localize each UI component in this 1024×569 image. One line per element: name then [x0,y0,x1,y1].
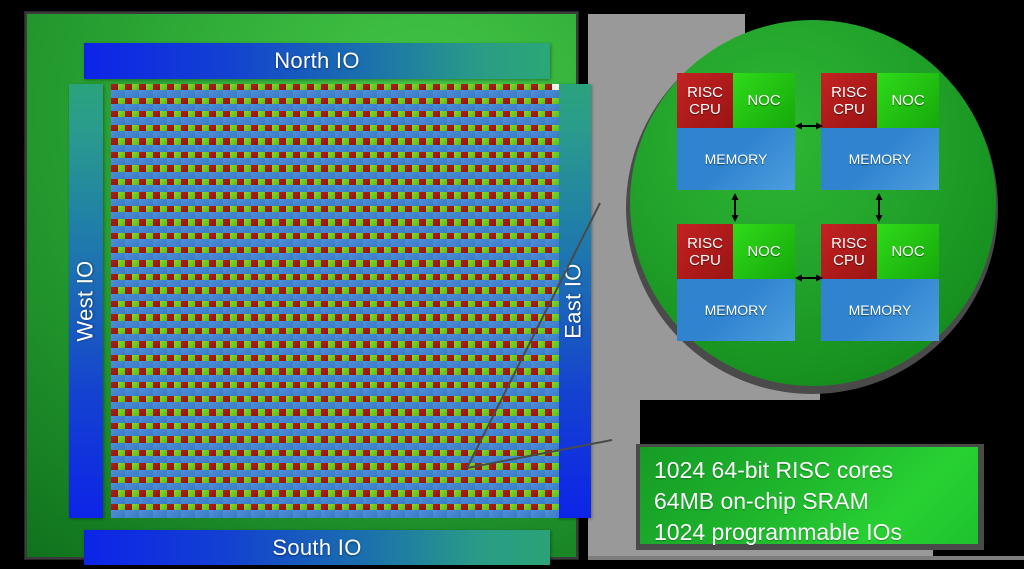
core-tile[interactable] [461,219,475,233]
core-tile[interactable] [209,152,223,166]
core-tile[interactable] [545,314,559,328]
core-tile[interactable] [419,409,433,423]
core-tile[interactable] [125,409,139,423]
core-tile[interactable] [503,450,517,464]
core-tile[interactable] [209,436,223,450]
core-tile[interactable] [349,84,363,98]
core-tile[interactable] [265,247,279,261]
core-tile[interactable] [265,463,279,477]
core-tile[interactable] [209,98,223,112]
core-tile[interactable] [111,328,125,342]
core-tile[interactable] [167,111,181,125]
core-tile[interactable] [489,233,503,247]
core-tile[interactable] [405,436,419,450]
core-tile[interactable] [363,396,377,410]
core-tile[interactable] [503,382,517,396]
core-tile[interactable] [363,341,377,355]
core-tile[interactable] [475,450,489,464]
core-tile[interactable] [139,328,153,342]
core-tile[interactable] [153,98,167,112]
core-tile[interactable] [139,341,153,355]
core-tile[interactable] [391,463,405,477]
core-tile[interactable] [293,409,307,423]
core-tile[interactable] [419,382,433,396]
core-tile[interactable] [111,301,125,315]
core-tile[interactable] [293,328,307,342]
core-tile[interactable] [363,463,377,477]
core-tile[interactable] [391,206,405,220]
core-tile[interactable] [181,84,195,98]
core-tile[interactable] [181,192,195,206]
core-tile[interactable] [461,138,475,152]
core-tile[interactable] [307,165,321,179]
core-tile[interactable] [321,233,335,247]
core-tile[interactable] [265,219,279,233]
core-tile[interactable] [475,287,489,301]
core-tile[interactable] [335,138,349,152]
core-tile[interactable] [237,84,251,98]
core-tile[interactable] [503,504,517,518]
core-tile[interactable] [293,179,307,193]
core-tile[interactable] [195,314,209,328]
core-tile[interactable] [237,152,251,166]
core-tile[interactable] [153,341,167,355]
core-tile[interactable] [475,138,489,152]
core-tile[interactable] [405,423,419,437]
core-tile[interactable] [433,233,447,247]
core-tile[interactable] [251,138,265,152]
core-tile[interactable] [307,84,321,98]
core-tile[interactable] [293,233,307,247]
core-tile[interactable] [209,477,223,491]
core-tile[interactable] [321,98,335,112]
core-tile[interactable] [195,233,209,247]
core-tile[interactable] [181,355,195,369]
core-tile[interactable] [237,450,251,464]
core-tile[interactable] [391,233,405,247]
core-tile[interactable] [209,450,223,464]
core-tile[interactable] [251,260,265,274]
core-tile[interactable] [545,341,559,355]
core-tile[interactable] [321,477,335,491]
core-tile[interactable] [363,450,377,464]
core-tile[interactable] [209,84,223,98]
core-tile[interactable] [531,138,545,152]
core-tile[interactable] [209,409,223,423]
core-tile[interactable] [335,368,349,382]
core-tile[interactable] [293,423,307,437]
core-tile[interactable] [111,98,125,112]
core-tile[interactable] [517,314,531,328]
core-tile[interactable] [265,152,279,166]
core-tile[interactable] [433,125,447,139]
core-tile[interactable] [545,152,559,166]
core-tile[interactable] [363,165,377,179]
core-tile[interactable] [363,477,377,491]
core-tile[interactable] [349,477,363,491]
core-tile[interactable] [433,206,447,220]
core-tile[interactable] [517,355,531,369]
core-tile[interactable] [405,152,419,166]
core-tile[interactable] [181,287,195,301]
core-tile[interactable] [167,355,181,369]
core-tile[interactable] [489,206,503,220]
core-tile[interactable] [545,274,559,288]
core-tile[interactable] [307,152,321,166]
core-tile[interactable] [279,287,293,301]
core-tile[interactable] [265,274,279,288]
core-tile[interactable] [265,179,279,193]
core-tile[interactable] [545,436,559,450]
core-tile[interactable] [405,111,419,125]
core-tile[interactable] [167,463,181,477]
core-tile[interactable] [461,355,475,369]
core-tile[interactable] [125,450,139,464]
core-tile[interactable] [447,260,461,274]
core-tile[interactable] [195,450,209,464]
core-tile[interactable] [237,328,251,342]
core-tile[interactable] [447,477,461,491]
core-tile[interactable] [349,287,363,301]
core-tile[interactable] [181,423,195,437]
core-tile[interactable] [335,206,349,220]
core-tile[interactable] [293,125,307,139]
core-tile[interactable] [223,138,237,152]
core-tile[interactable] [181,396,195,410]
core-tile[interactable] [251,463,265,477]
core-tile[interactable] [405,504,419,518]
core-tile[interactable] [223,504,237,518]
core-tile[interactable] [111,477,125,491]
core-tile[interactable] [545,192,559,206]
core-tile[interactable] [503,287,517,301]
core-tile[interactable] [181,490,195,504]
core-tile[interactable] [349,138,363,152]
core-tile[interactable] [293,382,307,396]
core-tile[interactable] [307,233,321,247]
core-tile[interactable] [461,396,475,410]
core-tile[interactable] [405,490,419,504]
core-tile[interactable] [279,423,293,437]
zoom-tile-bottom-right[interactable]: RISC CPU NOC MEMORY [821,224,939,341]
core-tile[interactable] [195,179,209,193]
core-tile[interactable] [391,287,405,301]
core-tile[interactable] [377,260,391,274]
core-tile[interactable] [111,287,125,301]
core-tile[interactable] [433,301,447,315]
core-tile[interactable] [391,423,405,437]
core-tile[interactable] [349,111,363,125]
core-tile[interactable] [153,355,167,369]
core-tile[interactable] [433,165,447,179]
core-tile[interactable] [433,490,447,504]
core-tile[interactable] [223,341,237,355]
core-tile[interactable] [447,111,461,125]
core-tile[interactable] [461,341,475,355]
core-tile[interactable] [251,314,265,328]
core-tile[interactable] [545,98,559,112]
core-tile[interactable] [349,192,363,206]
core-tile[interactable] [209,192,223,206]
core-tile[interactable] [195,219,209,233]
core-tile[interactable] [223,152,237,166]
core-tile[interactable] [125,301,139,315]
core-tile[interactable] [237,341,251,355]
core-tile[interactable] [167,274,181,288]
core-tile[interactable] [517,152,531,166]
core-tile[interactable] [447,409,461,423]
core-tile[interactable] [251,247,265,261]
core-tile[interactable] [321,409,335,423]
core-tile[interactable] [475,84,489,98]
core-tile[interactable] [545,368,559,382]
core-tile[interactable] [489,179,503,193]
core-tile[interactable] [265,504,279,518]
core-tile[interactable] [279,98,293,112]
core-tile[interactable] [139,287,153,301]
core-tile[interactable] [293,274,307,288]
core-tile[interactable] [447,192,461,206]
core-tile[interactable] [223,125,237,139]
core-tile[interactable] [433,287,447,301]
core-tile[interactable] [321,504,335,518]
core-tile[interactable] [279,247,293,261]
core-tile[interactable] [475,504,489,518]
core-tile[interactable] [405,260,419,274]
core-tile[interactable] [139,219,153,233]
core-tile[interactable] [195,436,209,450]
core-tile[interactable] [279,409,293,423]
core-tile[interactable] [489,247,503,261]
core-tile[interactable] [503,477,517,491]
core-tile[interactable] [503,179,517,193]
core-tile[interactable] [167,287,181,301]
core-tile[interactable] [209,382,223,396]
core-tile[interactable] [111,206,125,220]
core-tile[interactable] [503,436,517,450]
core-tile[interactable] [139,409,153,423]
core-tile[interactable] [461,206,475,220]
core-tile[interactable] [307,247,321,261]
core-tile[interactable] [503,368,517,382]
core-tile[interactable] [251,84,265,98]
core-tile[interactable] [405,341,419,355]
core-tile[interactable] [405,247,419,261]
core-tile[interactable] [293,450,307,464]
core-tile[interactable] [363,125,377,139]
core-tile[interactable] [363,328,377,342]
core-tile[interactable] [391,368,405,382]
core-tile[interactable] [181,436,195,450]
core-tile[interactable] [321,274,335,288]
core-tile[interactable] [279,125,293,139]
core-tile[interactable] [545,423,559,437]
core-tile[interactable] [139,260,153,274]
core-tile[interactable] [433,368,447,382]
core-tile[interactable] [475,409,489,423]
core-tile[interactable] [279,463,293,477]
core-tile[interactable] [223,368,237,382]
core-tile[interactable] [377,409,391,423]
core-tile[interactable] [167,477,181,491]
core-tile[interactable] [363,233,377,247]
core-tile[interactable] [251,396,265,410]
core-tile[interactable] [293,84,307,98]
core-tile[interactable] [405,368,419,382]
core-tile[interactable] [265,165,279,179]
core-tile[interactable] [265,355,279,369]
core-tile[interactable] [349,125,363,139]
core-tile[interactable] [265,328,279,342]
core-tile[interactable] [125,504,139,518]
core-tile[interactable] [125,423,139,437]
core-tile[interactable] [293,368,307,382]
core-tile[interactable] [517,165,531,179]
core-tile[interactable] [531,504,545,518]
core-tile[interactable] [461,301,475,315]
core-tile[interactable] [475,477,489,491]
core-tile[interactable] [433,84,447,98]
core-tile[interactable] [517,450,531,464]
core-tile[interactable] [475,423,489,437]
core-tile[interactable] [279,450,293,464]
core-tile[interactable] [321,328,335,342]
core-tile[interactable] [475,233,489,247]
core-tile[interactable] [503,355,517,369]
core-tile[interactable] [307,179,321,193]
core-tile[interactable] [377,396,391,410]
core-tile[interactable] [335,463,349,477]
core-tile[interactable] [181,179,195,193]
core-tile[interactable] [293,111,307,125]
core-tile[interactable] [517,382,531,396]
core-tile[interactable] [349,341,363,355]
core-tile[interactable] [545,247,559,261]
core-tile[interactable] [531,274,545,288]
core-tile[interactable] [279,165,293,179]
core-tile[interactable] [237,301,251,315]
core-tile[interactable] [531,233,545,247]
core-tile[interactable] [391,98,405,112]
core-tile[interactable] [223,287,237,301]
core-tile[interactable] [517,125,531,139]
core-tile[interactable] [377,98,391,112]
core-tile[interactable] [279,84,293,98]
core-tile[interactable] [125,382,139,396]
core-tile[interactable] [489,260,503,274]
core-tile[interactable] [391,165,405,179]
core-tile[interactable] [335,152,349,166]
core-tile[interactable] [167,314,181,328]
core-tile[interactable] [265,301,279,315]
core-tile[interactable] [251,355,265,369]
core-tile[interactable] [531,463,545,477]
core-tile[interactable] [321,463,335,477]
core-tile[interactable] [251,341,265,355]
core-tile[interactable] [321,368,335,382]
core-tile[interactable] [111,179,125,193]
core-tile[interactable] [433,423,447,437]
core-tile[interactable] [223,274,237,288]
core-tile[interactable] [433,274,447,288]
core-tile[interactable] [433,111,447,125]
core-tile[interactable] [419,98,433,112]
core-tile[interactable] [181,314,195,328]
core-tile[interactable] [363,192,377,206]
core-tile[interactable] [363,260,377,274]
core-tile[interactable] [223,179,237,193]
core-tile[interactable] [461,504,475,518]
core-tile[interactable] [335,98,349,112]
core-tile[interactable] [489,368,503,382]
core-tile[interactable] [419,111,433,125]
core-tile[interactable] [139,396,153,410]
core-tile[interactable] [125,477,139,491]
core-tile[interactable] [447,274,461,288]
core-tile[interactable] [503,98,517,112]
core-tile[interactable] [475,436,489,450]
core-tile[interactable] [307,274,321,288]
core-tile[interactable] [503,84,517,98]
core-tile[interactable] [223,84,237,98]
core-tile[interactable] [489,504,503,518]
core-tile[interactable] [489,328,503,342]
core-tile[interactable] [405,84,419,98]
core-tile[interactable] [125,260,139,274]
core-tile[interactable] [293,287,307,301]
core-tile[interactable] [447,368,461,382]
core-tile[interactable] [531,314,545,328]
core-tile[interactable] [489,463,503,477]
core-tile[interactable] [377,450,391,464]
core-tile[interactable] [223,423,237,437]
core-tile[interactable] [447,490,461,504]
core-tile[interactable] [489,98,503,112]
core-tile[interactable] [251,490,265,504]
core-tile[interactable] [489,382,503,396]
core-tile[interactable] [349,396,363,410]
core-tile[interactable] [489,138,503,152]
core-tile[interactable] [279,138,293,152]
core-tile[interactable] [489,477,503,491]
core-tile[interactable] [167,152,181,166]
core-tile[interactable] [293,490,307,504]
core-tile[interactable] [279,382,293,396]
core-tile[interactable] [461,287,475,301]
core-tile[interactable] [139,314,153,328]
core-tile[interactable] [237,287,251,301]
core-tile[interactable] [363,219,377,233]
core-tile[interactable] [503,192,517,206]
core-tile[interactable] [153,436,167,450]
core-tile[interactable] [279,436,293,450]
core-tile[interactable] [181,301,195,315]
core-tile[interactable] [545,463,559,477]
core-tile[interactable] [181,368,195,382]
core-tile[interactable] [111,247,125,261]
core-tile[interactable] [335,219,349,233]
core-tile[interactable] [293,219,307,233]
core-tile[interactable] [251,274,265,288]
core-tile[interactable] [293,477,307,491]
core-tile[interactable] [153,233,167,247]
core-tile[interactable] [195,368,209,382]
core-tile[interactable] [321,219,335,233]
core-tile[interactable] [433,152,447,166]
core-tile[interactable] [111,409,125,423]
core-tile[interactable] [447,314,461,328]
core-tile[interactable] [475,111,489,125]
